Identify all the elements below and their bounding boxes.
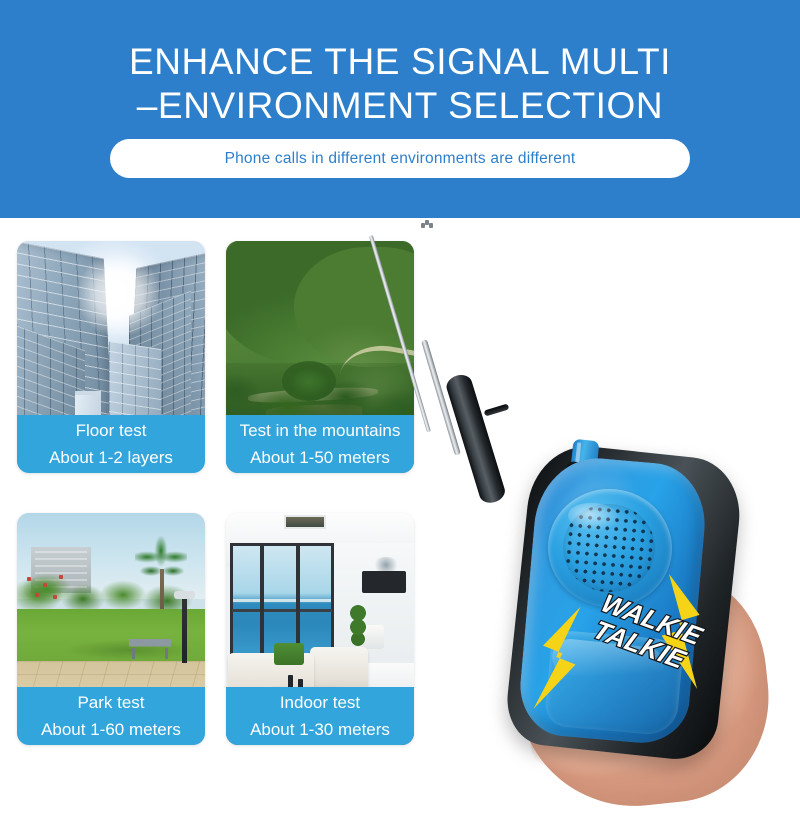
- card-detail: About 1-2 layers: [49, 444, 173, 471]
- headline-line-2: –ENVIRONMENT SELECTION: [0, 84, 800, 128]
- product-infographic: ENHANCE THE SIGNAL MULTI –ENVIRONMENT SE…: [0, 0, 800, 800]
- card-caption: Indoor test About 1-30 meters: [226, 687, 414, 745]
- card-detail: About 1-30 meters: [250, 716, 390, 743]
- antenna-ring: [484, 403, 510, 416]
- subtitle-text: Phone calls in different environments ar…: [225, 150, 576, 168]
- card-mountain-test: Test in the mountains About 1-50 meters: [226, 241, 414, 473]
- card-title: Park test: [77, 689, 144, 716]
- card-caption: Test in the mountains About 1-50 meters: [226, 415, 414, 473]
- card-caption: Floor test About 1-2 layers: [17, 415, 205, 473]
- product-photo-walkie-talkie: WALKIE TALKIE: [400, 215, 800, 800]
- subtitle-pill: Phone calls in different environments ar…: [110, 139, 690, 178]
- card-detail: About 1-50 meters: [250, 444, 390, 471]
- page-title: ENHANCE THE SIGNAL MULTI –ENVIRONMENT SE…: [0, 40, 800, 128]
- card-caption: Park test About 1-60 meters: [17, 687, 205, 745]
- headline-line-1: ENHANCE THE SIGNAL MULTI: [129, 41, 671, 82]
- card-title: Test in the mountains: [240, 417, 401, 444]
- antenna-tip-icon: [421, 220, 432, 229]
- lamp-post: [182, 597, 187, 663]
- card-title: Indoor test: [280, 689, 360, 716]
- card-floor-test: Floor test About 1-2 layers: [17, 241, 205, 473]
- header-banner: ENHANCE THE SIGNAL MULTI –ENVIRONMENT SE…: [0, 0, 800, 218]
- sun-flare: [77, 255, 161, 335]
- brand-logo: WALKIE TALKIE: [586, 607, 743, 712]
- card-park-test: Park test About 1-60 meters: [17, 513, 205, 745]
- card-title: Floor test: [76, 417, 147, 444]
- card-indoor-test: Indoor test About 1-30 meters: [226, 513, 414, 745]
- park-bench: [129, 639, 171, 659]
- card-detail: About 1-60 meters: [41, 716, 181, 743]
